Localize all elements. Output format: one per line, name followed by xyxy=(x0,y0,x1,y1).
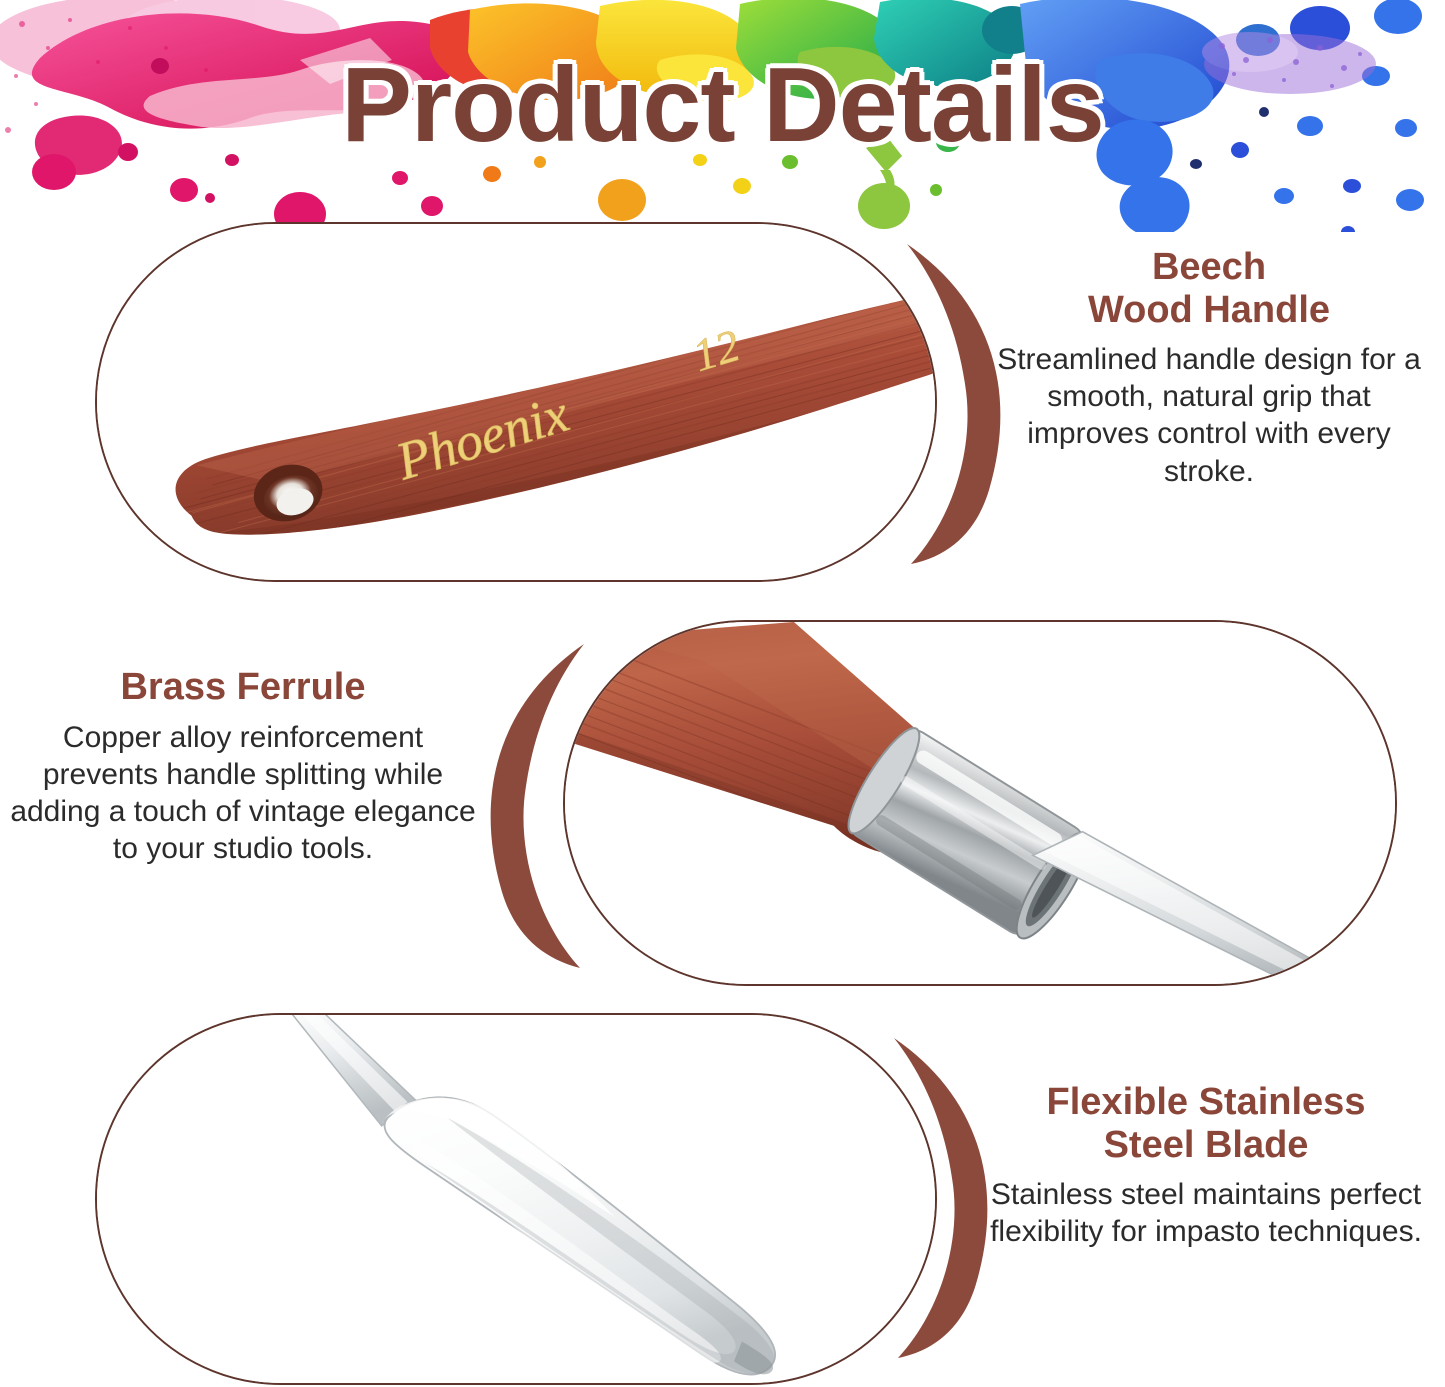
feature-text-blade: Flexible Stainless Steel Blade Stainless… xyxy=(980,1081,1432,1250)
feature-body-ferrule: Copper alloy reinforcement prevents hand… xyxy=(8,719,478,868)
feature-body-blade: Stainless steel maintains perfect flexib… xyxy=(980,1176,1432,1250)
feature-text-handle: Beech Wood Handle Streamlined handle des… xyxy=(985,246,1433,490)
feature-text-ferrule: Brass Ferrule Copper alloy reinforcement… xyxy=(8,666,478,867)
steel-blade-photo xyxy=(97,1015,935,1383)
feature-heading-blade: Flexible Stainless Steel Blade xyxy=(980,1081,1432,1166)
header-banner: Product Details xyxy=(0,0,1445,232)
page-title: Product Details xyxy=(0,52,1445,158)
product-details-infographic: Product Details xyxy=(0,0,1445,1387)
brass-ferrule-photo xyxy=(565,622,1395,984)
wood-handle-photo: Phoenix 12 xyxy=(97,224,935,580)
feature-photo-panel-blade xyxy=(95,1013,937,1385)
feature-heading-handle: Beech Wood Handle xyxy=(985,246,1433,331)
feature-body-handle: Streamlined handle design for a smooth, … xyxy=(985,341,1433,490)
feature-photo-panel-handle: Phoenix 12 xyxy=(95,222,937,582)
feature-photo-panel-ferrule xyxy=(563,620,1397,986)
feature-heading-ferrule: Brass Ferrule xyxy=(8,666,478,709)
